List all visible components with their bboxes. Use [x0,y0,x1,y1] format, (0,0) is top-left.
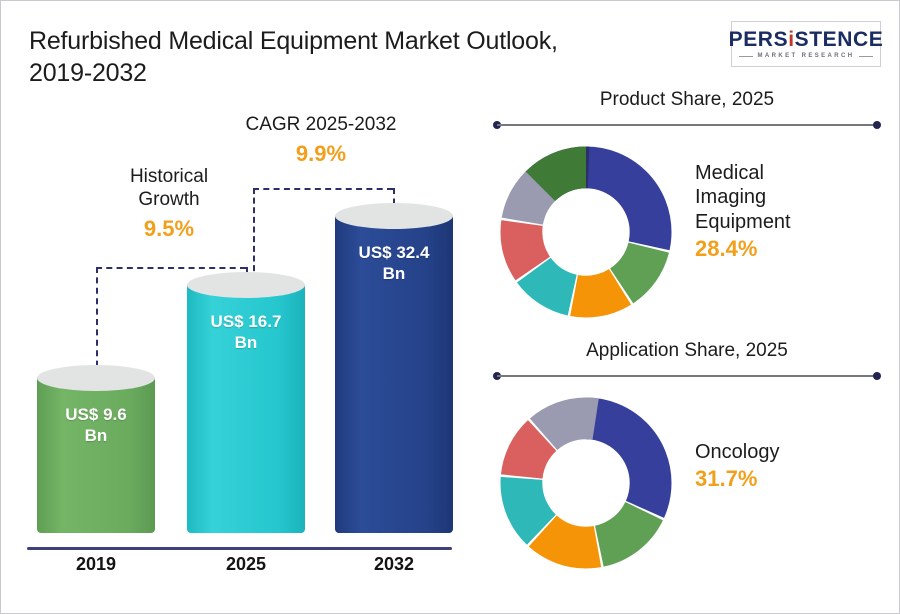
bar-2025-value-label: US$ 16.7 Bn [187,311,305,354]
bar-2025[interactable]: US$ 16.7 Bn [187,285,305,533]
bar-2019-cylinder-top [37,365,155,391]
application-share-row: Oncology 31.7% [473,388,900,578]
product-share-legend-name: Medical Imaging Equipment [695,161,791,234]
page-title: Refurbished Medical Equipment Market Out… [29,25,689,89]
bar-2019-value-label: US$ 9.6 Bn [37,404,155,447]
product-share-legend: Medical Imaging Equipment 28.4% [695,161,791,262]
product-share-legend-value: 28.4% [695,236,791,262]
brand-logo-tagline-row: MARKET RESEARCH [739,53,872,59]
product-share-row: Medical Imaging Equipment 28.4% [473,137,900,327]
product-share-divider [493,121,881,129]
application-share-donut[interactable] [491,388,681,578]
divider-dot-right [873,121,881,129]
annotation-cagr-title: CAGR 2025-2032 [216,114,426,137]
infographic-root: Refurbished Medical Equipment Market Out… [0,0,900,614]
brand-logo-part1: PERS [729,28,789,51]
bar-year-2025: 2025 [187,554,305,575]
application-share-legend: Oncology 31.7% [695,440,780,492]
divider-rule [497,124,877,126]
bar-year-2019: 2019 [37,554,155,575]
annotation-historical-growth-title: Historical Growth [79,166,259,212]
tagline-rule-left [739,56,753,57]
brand-logo-tagline: MARKET RESEARCH [757,53,854,59]
brand-logo-part2: STENCE [795,28,884,51]
bar-2025-cylinder-top [187,272,305,298]
product-share-donut[interactable] [491,137,681,327]
divider-dot-right [873,372,881,380]
product-share-block: Product Share, 2025 [473,89,900,327]
annotation-historical-growth-value: 9.5% [79,216,259,242]
dash-historical-horizontal [96,267,246,269]
bar-year-2032: 2032 [335,554,453,575]
annotation-cagr: CAGR 2025-2032 9.9% [216,114,426,167]
share-panel: Product Share, 2025 [473,89,900,609]
annotation-historical-growth: Historical Growth 9.5% [79,166,259,242]
application-share-block: Application Share, 2025 [473,340,900,578]
tagline-rule-right [859,56,873,57]
brand-logo: PERSiSTENCE MARKET RESEARCH [731,21,881,67]
dash-cagr-horizontal [253,188,393,190]
divider-rule [497,375,877,377]
application-share-legend-value: 31.7% [695,466,780,492]
bar-chart: Historical Growth 9.5% CAGR 2025-2032 9.… [1,96,471,596]
bar-chart-axis [27,547,452,550]
application-share-heading: Application Share, 2025 [473,340,900,363]
bar-2032-value-label: US$ 32.4 Bn [335,242,453,285]
brand-logo-wordmark: PERSiSTENCE [729,29,884,50]
application-share-legend-name: Oncology [695,440,780,464]
dash-historical-left [96,267,98,377]
product-share-heading: Product Share, 2025 [473,89,900,112]
bar-2032[interactable]: US$ 32.4 Bn [335,216,453,533]
application-share-divider [493,372,881,380]
bar-2019-body [37,378,155,533]
bar-2032-cylinder-top [335,203,453,229]
bar-2019[interactable]: US$ 9.6 Bn [37,378,155,533]
annotation-cagr-value: 9.9% [216,141,426,167]
